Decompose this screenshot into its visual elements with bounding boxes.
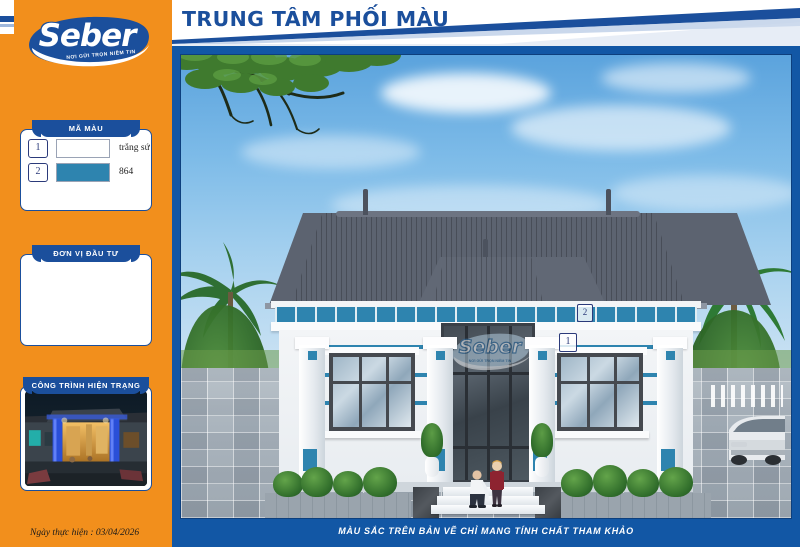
color-row-label: trắng sứ	[119, 143, 150, 153]
investor-panel-body[interactable]	[20, 254, 152, 346]
color-code-panel: MÃ MÀU 1 trắng sứ 2 864	[20, 120, 152, 211]
existing-works-panel: CÔNG TRÌNH HIỆN TRẠNG	[20, 377, 152, 491]
shrub	[627, 469, 659, 497]
window-left[interactable]	[329, 353, 415, 431]
roof-finial	[363, 189, 368, 215]
color-row-index: 1	[28, 139, 48, 158]
color-code-panel-body: 1 trắng sứ 2 864	[20, 129, 152, 211]
sidebar: Seber NƠI GỬI TRỌN NIỀM TIN MÃ MÀU 1 trắ…	[0, 0, 172, 547]
color-row-index: 2	[28, 163, 48, 182]
cloud	[511, 105, 731, 151]
shrub	[561, 469, 593, 497]
roof-finial	[606, 189, 611, 215]
white-fence	[711, 385, 783, 407]
existing-works-panel-body	[20, 386, 152, 491]
shrub	[333, 471, 363, 497]
render-canvas[interactable]: Seber NƠI GỬI TRỌN NIỀM TIN	[180, 54, 792, 519]
existing-works-panel-title: CÔNG TRÌNH HIỆN TRẠNG	[30, 377, 142, 394]
color-marker-1[interactable]: 1	[559, 333, 577, 352]
parked-car	[725, 410, 785, 466]
planter-right	[561, 493, 711, 519]
roof-ridge	[336, 211, 640, 217]
corner-ornament	[0, 0, 14, 34]
investor-panel: ĐƠN VỊ ĐẦU TƯ	[20, 245, 152, 346]
column-accent-square	[538, 351, 547, 360]
svg-text:NƠI GỬI TRỌN NIỀM TIN: NƠI GỬI TRỌN NIỀM TIN	[469, 358, 512, 363]
potted-plant	[531, 423, 553, 457]
shrub	[273, 471, 303, 497]
page-title: TRUNG TÂM PHỐI MÀU	[182, 7, 449, 31]
color-code-panel-title: MÃ MÀU	[39, 120, 133, 137]
column-accent-square	[308, 351, 317, 360]
svg-text:Seber: Seber	[459, 336, 523, 358]
execution-date: Ngày thực hiện : 03/04/2026	[30, 528, 139, 538]
window-right[interactable]	[557, 353, 643, 431]
column-accent-square	[436, 351, 445, 360]
color-scheme-sheet: Seber NƠI GỬI TRỌN NIỀM TIN MÃ MÀU 1 trắ…	[0, 0, 800, 547]
shrub	[659, 467, 693, 497]
cloud	[601, 63, 751, 93]
existing-house-photo[interactable]	[25, 391, 147, 486]
shrub	[363, 467, 397, 497]
investor-panel-title: ĐƠN VỊ ĐẦU TƯ	[39, 245, 133, 262]
color-swatch[interactable]	[56, 163, 110, 182]
color-row[interactable]: 2 864	[28, 162, 144, 182]
column-accent-square	[666, 351, 675, 360]
brand-logo: Seber NƠI GỬI TRỌN NIỀM TIN	[22, 10, 152, 72]
plant-pot	[425, 457, 439, 477]
render-caption: MÀU SẮC TRÊN BẢN VẼ CHỈ MANG TÍNH CHẤT T…	[180, 518, 792, 544]
cloud	[381, 73, 551, 113]
color-row-label: 864	[119, 167, 133, 177]
tree-branch-overlay	[180, 54, 401, 169]
render-frame: Seber NƠI GỬI TRỌN NIỀM TIN	[172, 46, 800, 547]
potted-plant	[421, 423, 443, 457]
plant-pot	[535, 457, 549, 477]
color-swatch[interactable]	[56, 139, 110, 158]
header: TRUNG TÂM PHỐI MÀU	[172, 0, 800, 46]
shrub	[593, 465, 627, 497]
window-sill-right	[551, 431, 649, 438]
color-marker-2[interactable]: 2	[577, 304, 593, 322]
seber-watermark: Seber NƠI GỬI TRỌN NIỀM TIN	[447, 329, 533, 373]
color-row[interactable]: 1 trắng sứ	[28, 138, 144, 158]
person-child	[487, 460, 507, 508]
clerestory-mullions	[275, 307, 697, 323]
window-sill-left	[323, 431, 421, 438]
shrub	[301, 467, 333, 497]
